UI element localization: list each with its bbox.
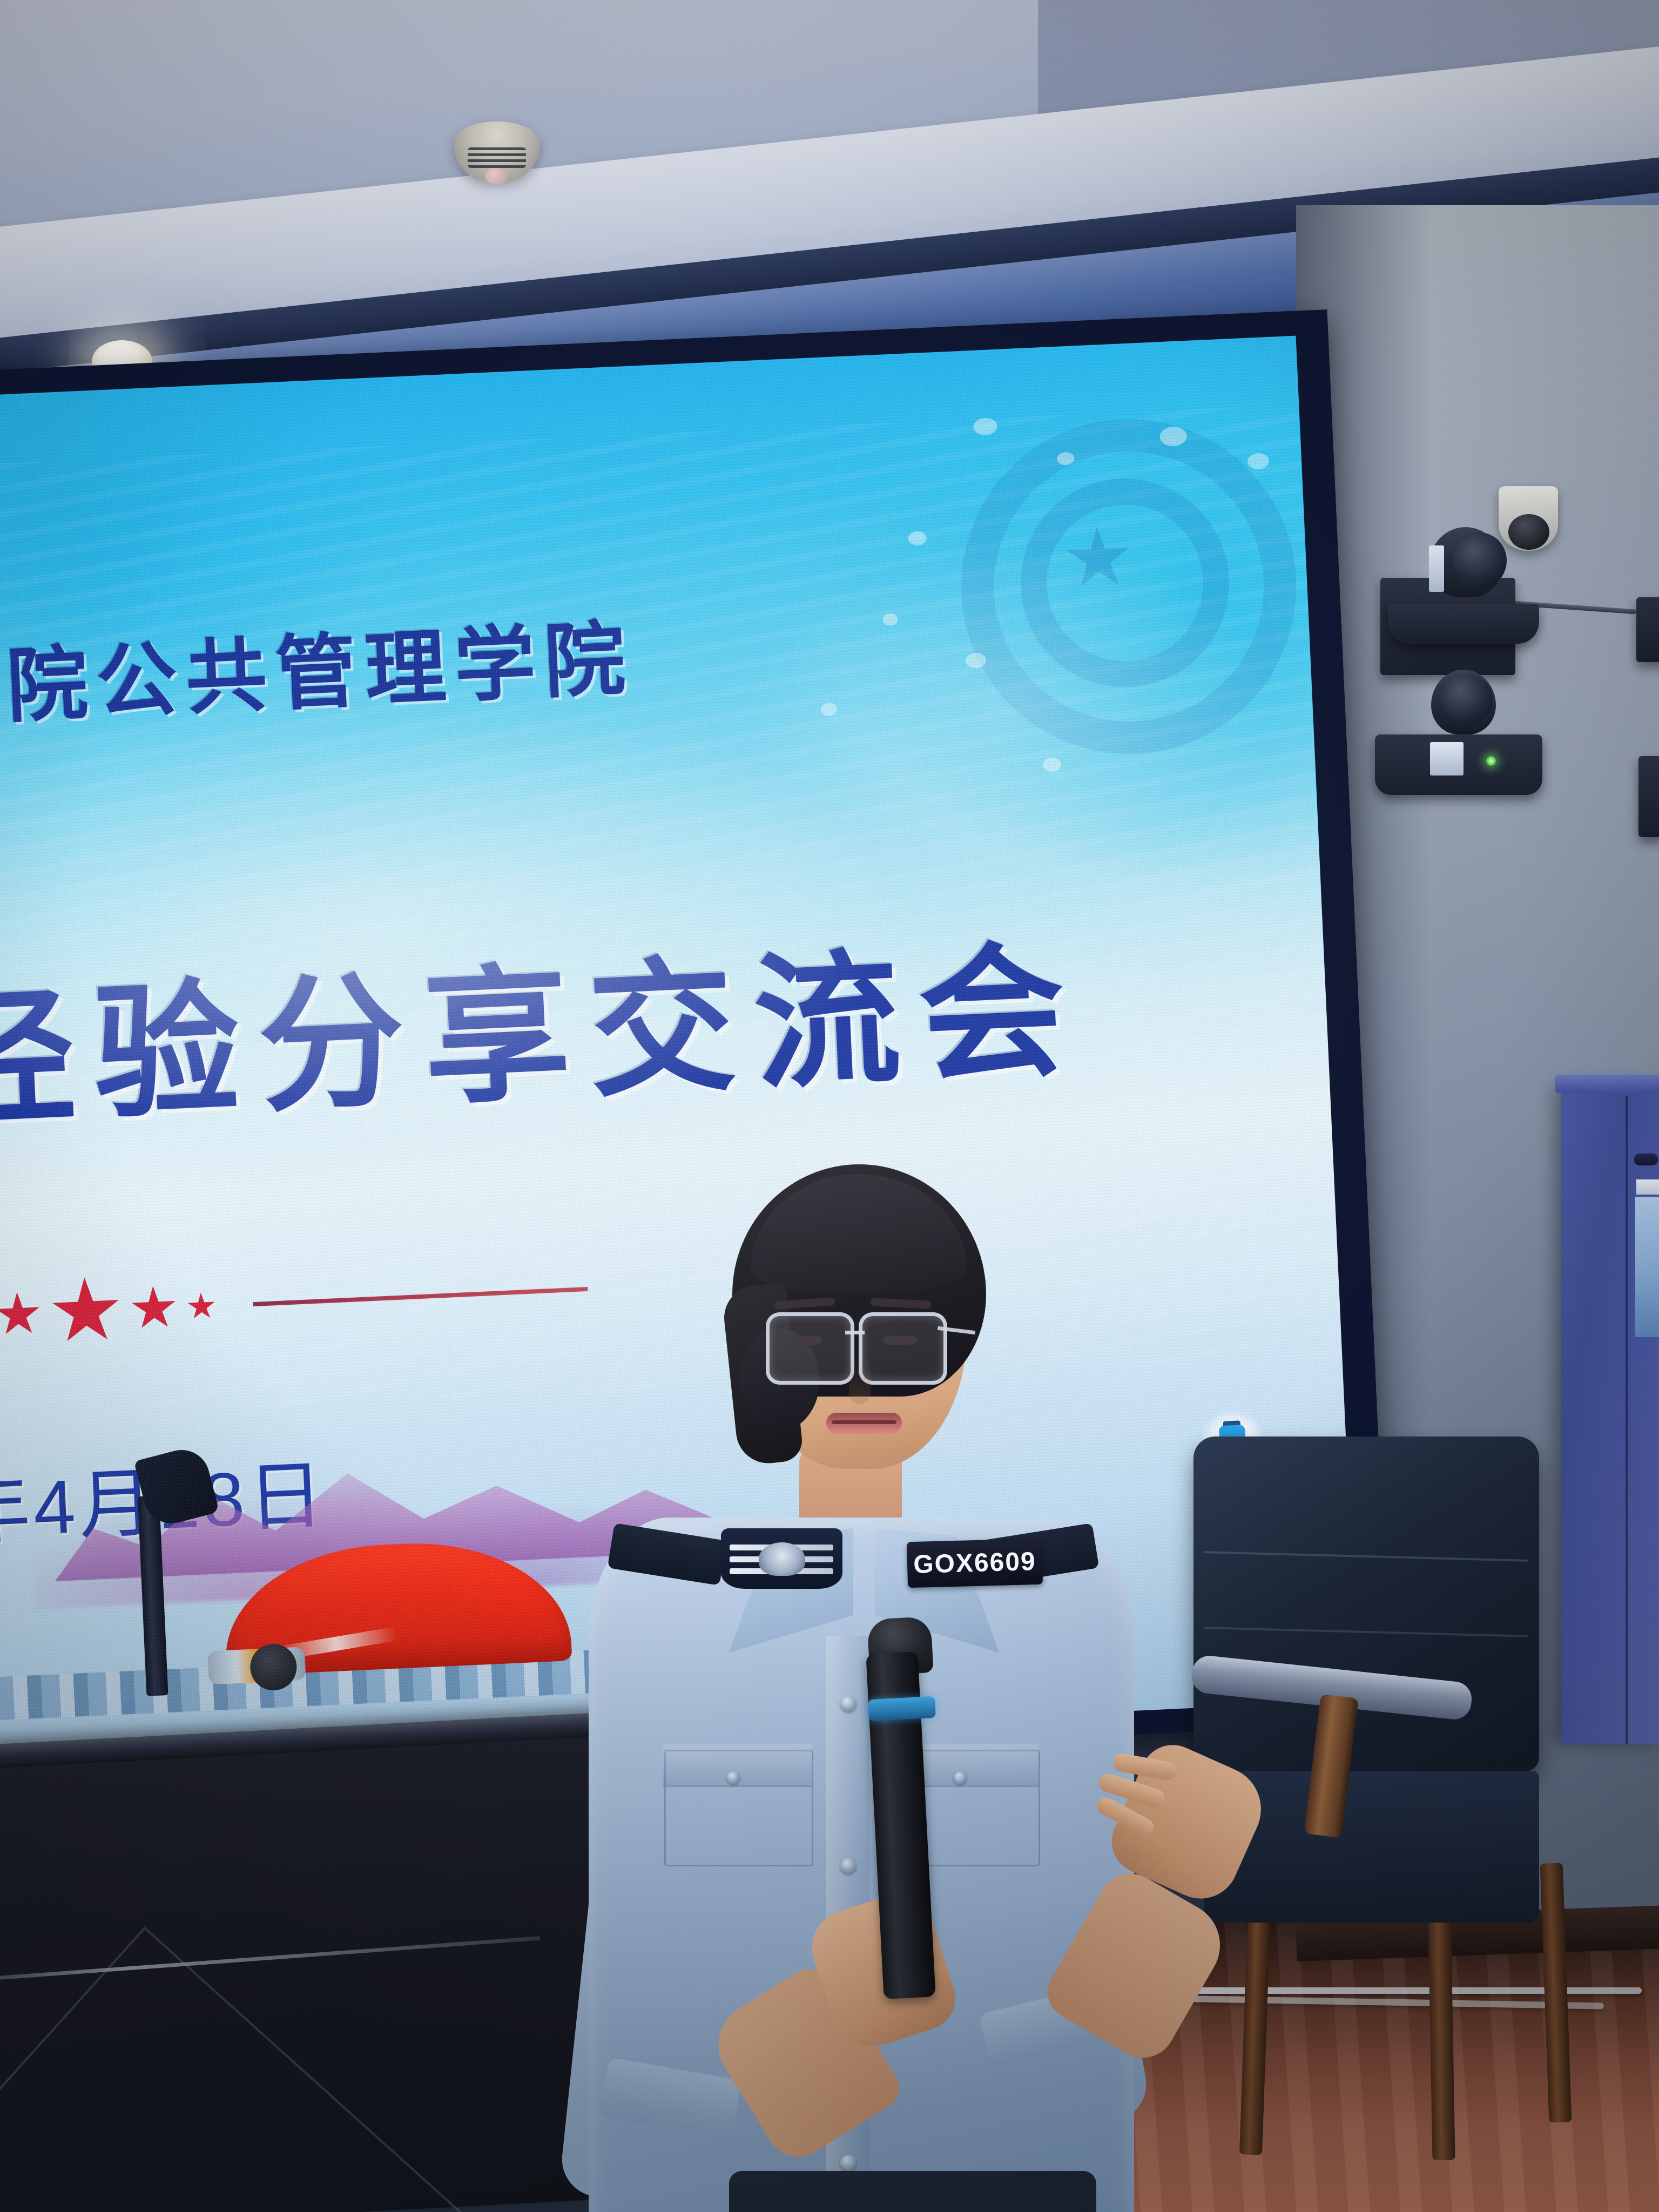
mouth-line — [832, 1420, 896, 1424]
shirt-button — [840, 2155, 857, 2171]
camera-lens-icon — [1441, 674, 1493, 726]
cabinet-sign — [1636, 1179, 1659, 1195]
nose — [849, 1355, 871, 1404]
presenter-trousers — [729, 2171, 1096, 2212]
camera-label — [1430, 742, 1464, 775]
name-tag-badge: GOX6609 — [907, 1539, 1043, 1588]
cabinet-lock-icon[interactable] — [1634, 1154, 1658, 1165]
camera-status-led-icon — [1486, 756, 1496, 766]
shirt-button — [840, 1858, 857, 1874]
shirt-button — [840, 1696, 857, 1712]
slide-title: 经验分享交流会 — [0, 892, 1089, 1155]
conference-room-photo: 学院公共管理学院 经验分享交流会 年4月18日 — [0, 0, 1659, 2212]
podium-moulding — [0, 1936, 540, 1986]
presenter: GOX6609 — [572, 1150, 1210, 2212]
microphone-collar-ring — [868, 1696, 936, 1721]
cabinet-window — [1635, 1197, 1659, 1337]
decorative-stars-row — [0, 1255, 589, 1352]
wall-bracket — [1636, 597, 1659, 662]
blue-upholstered-armchair[interactable] — [1193, 1437, 1539, 1771]
star-icon — [50, 1276, 122, 1348]
name-tag-text: GOX6609 — [913, 1547, 1037, 1580]
podium-diamond-panel — [0, 1926, 475, 2212]
camera-lens-icon — [1453, 532, 1507, 589]
camera-label — [1429, 545, 1444, 592]
dome-camera-icon — [1499, 486, 1558, 551]
pocket-button — [727, 1771, 740, 1784]
camera-base — [1388, 604, 1539, 644]
police-chest-insignia-icon — [721, 1528, 842, 1589]
pocket-button — [954, 1771, 967, 1784]
horizontal-rule — [253, 1287, 588, 1306]
star-icon — [187, 1292, 216, 1321]
cabinet-door-seam — [1626, 1096, 1628, 1744]
eyeglasses-bridge — [845, 1331, 865, 1334]
smoke-detector-icon — [454, 122, 540, 182]
eyeglasses-lens — [859, 1312, 947, 1385]
cabinet-top-cap — [1555, 1075, 1659, 1093]
star-rings-emblem — [954, 414, 1247, 707]
star-icon — [130, 1285, 178, 1333]
eyeglasses-lens — [766, 1312, 854, 1385]
wall-bracket — [1638, 756, 1659, 837]
star-icon — [0, 1291, 42, 1339]
slide-organization-line: 学院公共管理学院 — [0, 593, 636, 743]
